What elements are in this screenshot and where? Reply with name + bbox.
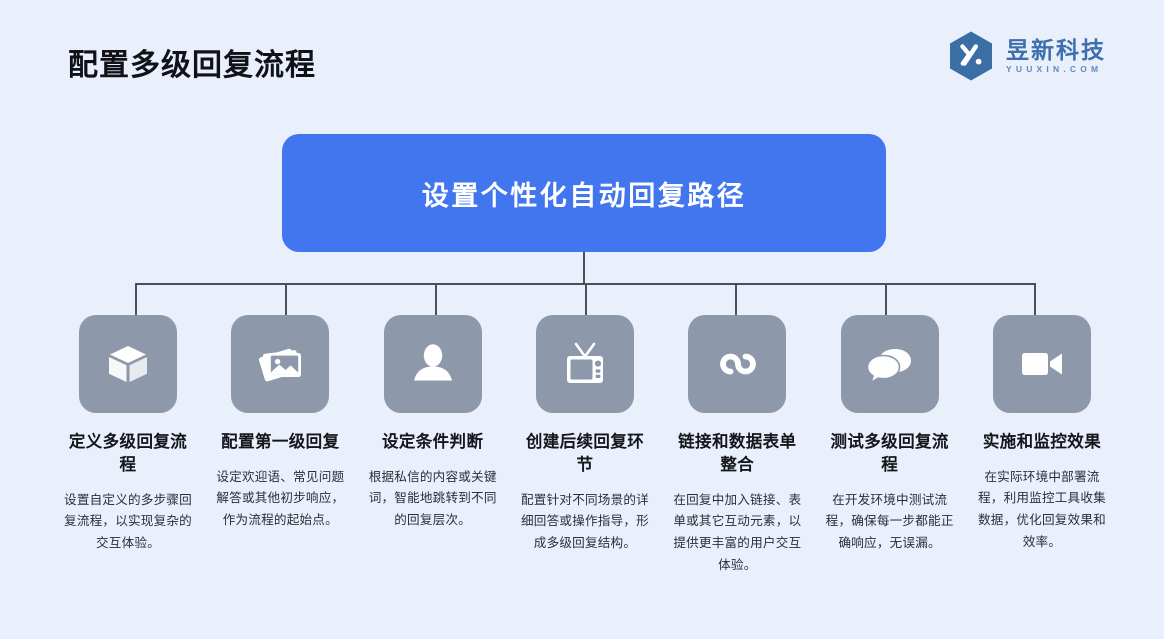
- connector-stem: [583, 252, 585, 284]
- step-desc-3: 根据私信的内容或关键词，智能地跳转到不同的回复层次。: [363, 467, 503, 532]
- connector-drop-6: [885, 283, 887, 317]
- connector-drop-4: [585, 283, 587, 317]
- step-title-5: 链接和数据表单整合: [671, 431, 803, 477]
- root-node[interactable]: 设置个性化自动回复路径: [282, 134, 886, 252]
- step-icon-tile-7[interactable]: [993, 315, 1091, 413]
- step-title-7: 实施和监控效果: [976, 431, 1108, 454]
- video-camera-icon: [1017, 344, 1067, 384]
- chain-link-icon: [712, 339, 762, 389]
- page-title: 配置多级回复流程: [68, 40, 316, 84]
- brand-text-block: 昱新科技 YUUXIN.COM: [1006, 38, 1106, 75]
- step-column-3[interactable]: 设定条件判断 根据私信的内容或关键词，智能地跳转到不同的回复层次。: [361, 315, 505, 576]
- step-icon-tile-4[interactable]: [536, 315, 634, 413]
- connector-drop-2: [285, 283, 287, 317]
- step-desc-4: 配置针对不同场景的详细回答或操作指导，形成多级回复结构。: [515, 490, 655, 555]
- step-title-6: 测试多级回复流程: [824, 431, 956, 477]
- brand-name: 昱新科技: [1006, 38, 1106, 64]
- step-icon-tile-3[interactable]: [384, 315, 482, 413]
- chat-bubbles-icon: [864, 341, 916, 387]
- step-desc-2: 设定欢迎语、常见问题解答或其他初步响应，作为流程的起始点。: [210, 467, 350, 532]
- hexagon-x-logo-icon: [947, 30, 995, 82]
- retro-tv-icon: [559, 339, 611, 389]
- step-icon-tile-2[interactable]: [231, 315, 329, 413]
- connector-drop-1: [135, 283, 137, 317]
- brand-logo: 昱新科技 YUUXIN.COM: [947, 30, 1106, 82]
- connector-drop-5: [735, 283, 737, 317]
- step-column-1[interactable]: 定义多级回复流程 设置自定义的多步骤回复流程，以实现复杂的交互体验。: [56, 315, 200, 576]
- step-column-2[interactable]: 配置第一级回复 设定欢迎语、常见问题解答或其他初步响应，作为流程的起始点。: [208, 315, 352, 576]
- step-desc-5: 在回复中加入链接、表单或其它互动元素，以提供更丰富的用户交互体验。: [667, 490, 807, 577]
- slide-canvas: 配置多级回复流程 昱新科技 YUUXIN.COM 设置个性化自动回复路径: [0, 0, 1164, 639]
- connector-drop-7: [1034, 283, 1036, 317]
- step-title-2: 配置第一级回复: [214, 431, 346, 454]
- step-desc-1: 设置自定义的多步骤回复流程，以实现复杂的交互体验。: [58, 490, 198, 555]
- step-icon-tile-5[interactable]: [688, 315, 786, 413]
- brand-domain: YUUXIN.COM: [1006, 64, 1106, 74]
- step-title-4: 创建后续回复环节: [519, 431, 651, 477]
- root-node-label: 设置个性化自动回复路径: [422, 174, 747, 213]
- step-column-5[interactable]: 链接和数据表单整合 在回复中加入链接、表单或其它互动元素，以提供更丰富的用户交互…: [665, 315, 809, 576]
- person-user-icon: [410, 340, 456, 388]
- step-title-1: 定义多级回复流程: [62, 431, 194, 477]
- photos-stack-icon: [254, 339, 306, 389]
- connector-drop-3: [435, 283, 437, 317]
- step-desc-7: 在实际环境中部署流程，利用监控工具收集数据，优化回复效果和效率。: [972, 467, 1112, 554]
- step-icon-tile-1[interactable]: [79, 315, 177, 413]
- cube-box-icon: [103, 339, 153, 389]
- step-icon-tile-6[interactable]: [841, 315, 939, 413]
- step-desc-6: 在开发环境中测试流程，确保每一步都能正确响应，无误漏。: [820, 490, 960, 555]
- step-column-7[interactable]: 实施和监控效果 在实际环境中部署流程，利用监控工具收集数据，优化回复效果和效率。: [970, 315, 1114, 576]
- step-column-6[interactable]: 测试多级回复流程 在开发环境中测试流程，确保每一步都能正确响应，无误漏。: [818, 315, 962, 576]
- step-title-3: 设定条件判断: [367, 431, 499, 454]
- step-column-4[interactable]: 创建后续回复环节 配置针对不同场景的详细回答或操作指导，形成多级回复结构。: [513, 315, 657, 576]
- step-columns: 定义多级回复流程 设置自定义的多步骤回复流程，以实现复杂的交互体验。: [56, 315, 1114, 576]
